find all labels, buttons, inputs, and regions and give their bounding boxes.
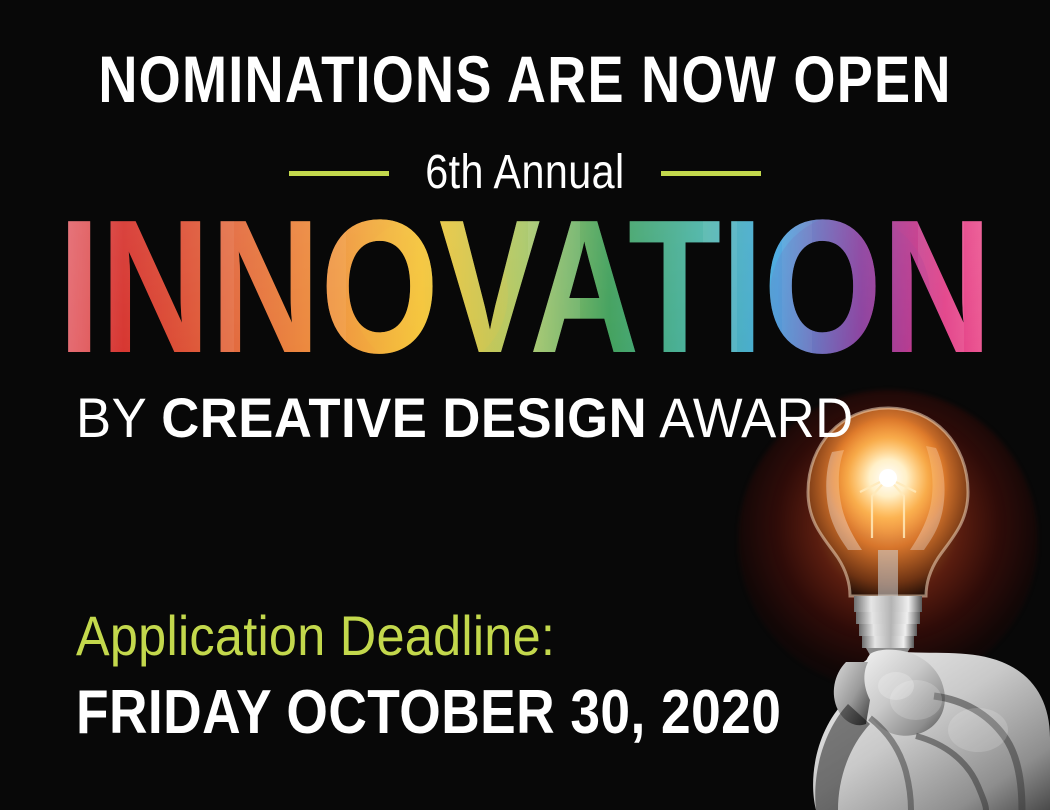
annual-subtitle-row: 6th Annual [0, 148, 1050, 198]
poster-canvas: NOMINATIONS ARE NOW OPEN 6th Annual [0, 0, 1050, 810]
wordmark-text: INNOVATION [58, 214, 992, 374]
byline-emphasis: CREATIVE DESIGN [161, 386, 647, 449]
bulb-screw-base [854, 596, 922, 662]
hand [813, 650, 1050, 810]
byline-prefix: BY [76, 386, 161, 449]
innovation-wordmark: INNOVATION INNOVATION [58, 214, 992, 374]
page-title: NOMINATIONS ARE NOW OPEN [95, 46, 956, 112]
byline: BY CREATIVE DESIGN AWARD [76, 390, 854, 446]
deadline-date: FRIDAY OCTOBER 30, 2020 [76, 682, 781, 744]
filament-hotspot [879, 469, 897, 487]
filament-wires [860, 478, 916, 538]
divider-rule-right [661, 171, 761, 176]
byline-suffix: AWARD [647, 386, 854, 449]
divider-rule-left [289, 171, 389, 176]
deadline-label: Application Deadline: [76, 608, 555, 664]
lightbulb-hand-illustration [720, 400, 1050, 810]
annual-subtitle: 6th Annual [425, 148, 624, 198]
